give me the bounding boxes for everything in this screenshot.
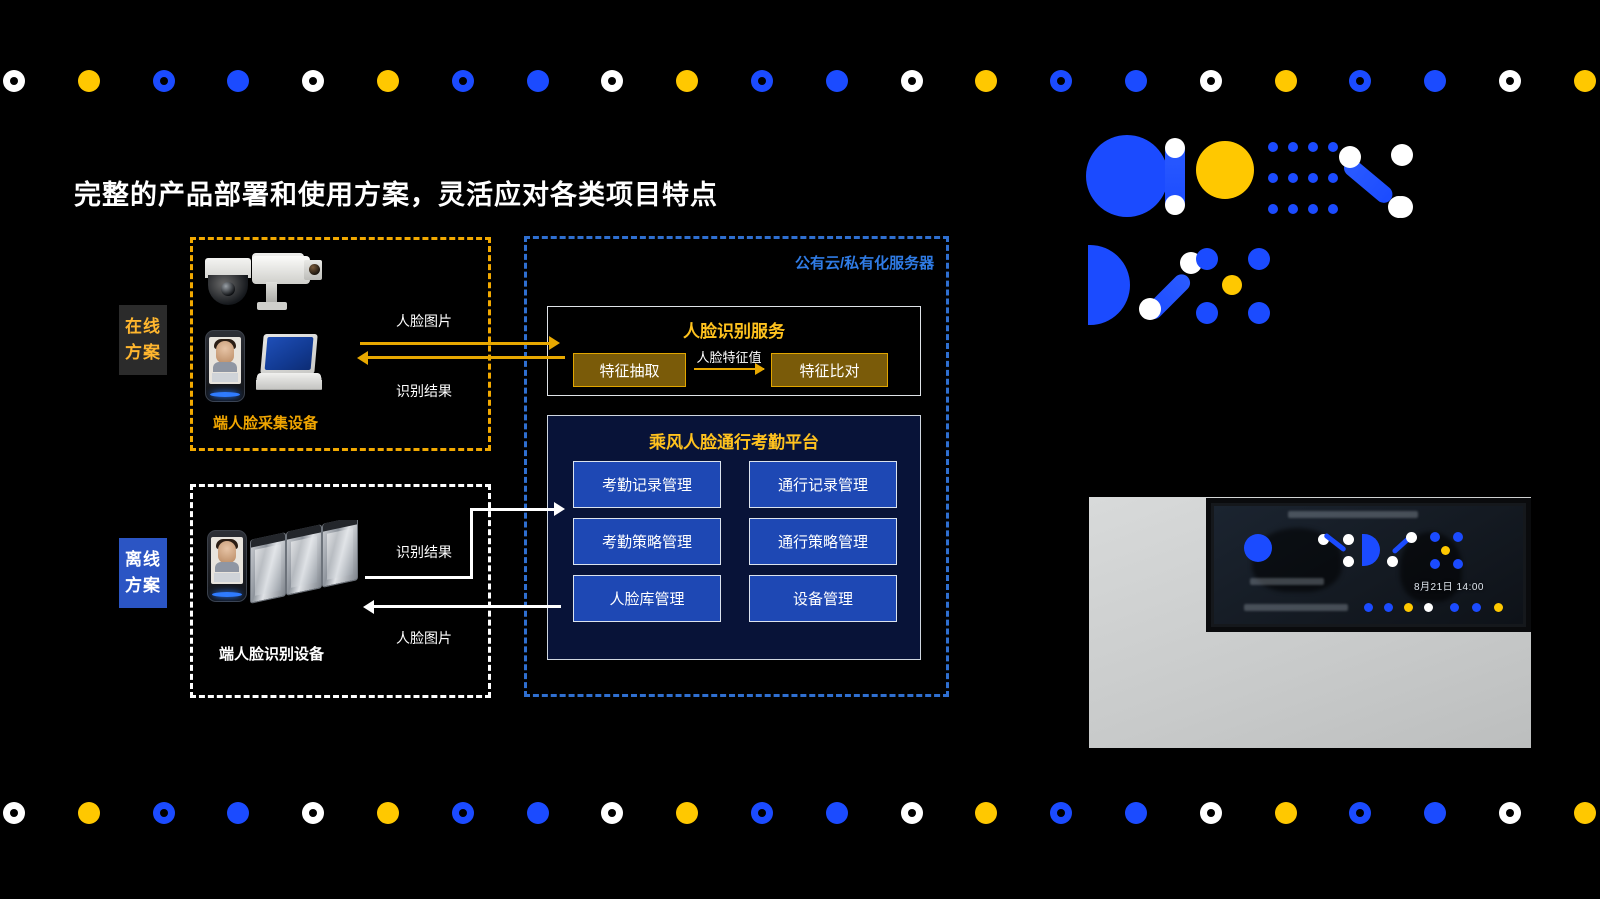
online-devices-caption: 端人脸采集设备 bbox=[213, 412, 318, 433]
deco-dot bbox=[1275, 802, 1297, 824]
sidebar-item-online-solution[interactable]: 在线方案 bbox=[119, 305, 167, 375]
side-tab-online-label: 在线方案 bbox=[119, 314, 167, 366]
deco-dot bbox=[1349, 802, 1371, 824]
deco-dot bbox=[1200, 802, 1222, 824]
offline-devices-caption: 端人脸识别设备 bbox=[219, 643, 324, 664]
bottom-dot-row bbox=[0, 802, 1600, 832]
deco-grid-dot bbox=[1288, 173, 1298, 183]
module-access-policy-management[interactable]: 通行策略管理 bbox=[749, 518, 897, 565]
deco-dot bbox=[78, 802, 100, 824]
deco-bar-top-dot bbox=[1165, 138, 1185, 158]
offline-result-line-lower bbox=[365, 576, 473, 579]
service-box-title: 人脸识别服务 bbox=[548, 317, 920, 342]
offline-result-line-upper bbox=[470, 508, 556, 511]
deco-dot bbox=[1050, 70, 1072, 92]
deco-dot bbox=[3, 802, 25, 824]
deco-dot bbox=[78, 70, 100, 92]
deco-yellow-circle bbox=[1196, 141, 1254, 199]
deco-dot bbox=[751, 70, 773, 92]
offline-result-arrowhead-icon bbox=[554, 502, 565, 516]
deco-dot bbox=[3, 70, 25, 92]
deco-dot bbox=[901, 70, 923, 92]
deco-dot bbox=[527, 802, 549, 824]
deco-diagonal-bars-top bbox=[1334, 144, 1422, 216]
deco-grid-dot bbox=[1268, 173, 1278, 183]
presentation-screen: 8月21日 14:00 bbox=[1206, 498, 1531, 632]
platform-title: 乘风人脸通行考勤平台 bbox=[548, 428, 920, 453]
deco-dot bbox=[377, 70, 399, 92]
module-device-management[interactable]: 设备管理 bbox=[749, 575, 897, 622]
page-title: 完整的产品部署和使用方案，灵活应对各类项目特点 bbox=[74, 173, 718, 212]
cloud-region-label: 公有云/私有化服务器 bbox=[795, 252, 934, 273]
offline-face-image-line bbox=[374, 605, 561, 608]
module-access-record-management[interactable]: 通行记录管理 bbox=[749, 461, 897, 508]
sidebar-item-offline-solution[interactable]: 离线方案 bbox=[119, 538, 167, 608]
deco-dot bbox=[1200, 70, 1222, 92]
deco-dot bbox=[1125, 70, 1147, 92]
deco-grid-dot bbox=[1308, 142, 1318, 152]
deco-dot bbox=[676, 802, 698, 824]
module-attendance-policy-management[interactable]: 考勤策略管理 bbox=[573, 518, 721, 565]
platform-module-grid: 考勤记录管理 通行记录管理 考勤策略管理 通行策略管理 人脸库管理 设备管理 bbox=[573, 461, 897, 622]
deco-dot bbox=[751, 802, 773, 824]
slide-canvas: 完整的产品部署和使用方案，灵活应对各类项目特点 在线方案 离线方案 端人脸采集设… bbox=[0, 0, 1600, 899]
deco-grid-dot bbox=[1288, 204, 1298, 214]
deco-bar-bottom-dot bbox=[1165, 195, 1185, 215]
deco-dot bbox=[1574, 70, 1596, 92]
deco-dot bbox=[302, 802, 324, 824]
deco-dot bbox=[1499, 802, 1521, 824]
deco-dot bbox=[1424, 802, 1446, 824]
deco-dot-cluster bbox=[1196, 248, 1276, 328]
deco-dot bbox=[676, 70, 698, 92]
deco-dot bbox=[452, 70, 474, 92]
online-face-image-label: 人脸图片 bbox=[396, 311, 452, 331]
bullet-camera-icon bbox=[252, 252, 326, 314]
top-dot-row bbox=[0, 70, 1600, 100]
feature-extraction-chip[interactable]: 特征抽取 bbox=[573, 353, 686, 387]
deco-dot bbox=[227, 70, 249, 92]
deco-dot bbox=[601, 802, 623, 824]
face-recognition-service-box: 人脸识别服务 特征抽取 人脸特征值 特征比对 bbox=[547, 306, 921, 396]
dome-camera-icon bbox=[205, 258, 251, 306]
offline-face-image-label: 人脸图片 bbox=[396, 628, 452, 648]
module-face-library-management[interactable]: 人脸库管理 bbox=[573, 575, 721, 622]
deco-dot bbox=[153, 70, 175, 92]
deco-dot bbox=[826, 70, 848, 92]
deco-grid-dot bbox=[1268, 204, 1278, 214]
deco-blue-circle bbox=[1086, 135, 1168, 217]
deco-dot bbox=[227, 802, 249, 824]
deco-dot bbox=[452, 802, 474, 824]
face-terminal-icon-offline bbox=[207, 530, 247, 602]
deco-dot-grid bbox=[1268, 142, 1338, 214]
deco-dot bbox=[601, 70, 623, 92]
deco-grid-dot bbox=[1308, 173, 1318, 183]
offline-result-line-vertical bbox=[470, 509, 473, 579]
turnstile-gates-icon bbox=[250, 520, 358, 604]
deco-dot bbox=[1424, 70, 1446, 92]
video-overlay: 8月21日 14:00 bbox=[1089, 497, 1531, 748]
deco-dot bbox=[527, 70, 549, 92]
online-result-arrow-line bbox=[368, 356, 565, 359]
feature-value-arrow-icon bbox=[694, 368, 764, 370]
deco-dot bbox=[153, 802, 175, 824]
deco-dot bbox=[1349, 70, 1371, 92]
deco-dot bbox=[1050, 802, 1072, 824]
deco-grid-dot bbox=[1268, 142, 1278, 152]
deco-dot bbox=[1125, 802, 1147, 824]
deco-grid-dot bbox=[1308, 204, 1318, 214]
screen-timestamp: 8月21日 14:00 bbox=[1414, 578, 1484, 593]
deco-dot bbox=[302, 70, 324, 92]
deco-dot bbox=[1499, 70, 1521, 92]
attendance-platform-panel: 乘风人脸通行考勤平台 考勤记录管理 通行记录管理 考勤策略管理 通行策略管理 人… bbox=[547, 415, 921, 660]
desktop-kiosk-icon bbox=[256, 334, 322, 396]
online-result-arrowhead-icon bbox=[357, 351, 368, 365]
offline-face-image-arrowhead-icon bbox=[363, 600, 374, 614]
presentation-screen-content: 8月21日 14:00 bbox=[1214, 506, 1523, 624]
online-face-image-arrowhead-icon bbox=[549, 336, 560, 350]
module-attendance-record-management[interactable]: 考勤记录管理 bbox=[573, 461, 721, 508]
deco-dot bbox=[901, 802, 923, 824]
deco-dot bbox=[1275, 70, 1297, 92]
deco-dot bbox=[826, 802, 848, 824]
deco-half-circle bbox=[1088, 245, 1130, 325]
side-tab-offline-label: 离线方案 bbox=[119, 547, 167, 599]
face-terminal-icon-online bbox=[205, 330, 245, 402]
deco-dot bbox=[975, 70, 997, 92]
deco-dot bbox=[975, 802, 997, 824]
deco-dot bbox=[1574, 802, 1596, 824]
online-face-image-arrow-line bbox=[360, 342, 550, 345]
feature-compare-chip[interactable]: 特征比对 bbox=[771, 353, 888, 387]
deco-grid-dot bbox=[1288, 142, 1298, 152]
offline-result-label: 识别结果 bbox=[396, 542, 452, 562]
deco-dot bbox=[377, 802, 399, 824]
online-result-label: 识别结果 bbox=[396, 381, 452, 401]
